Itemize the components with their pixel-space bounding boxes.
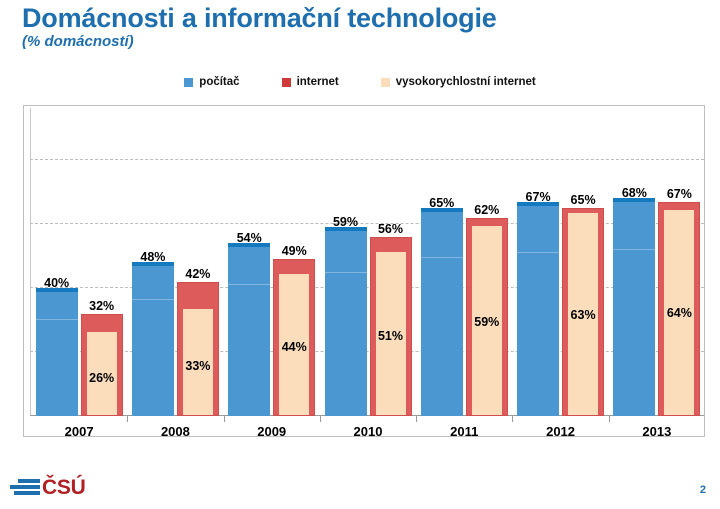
title-block: Domácnosti a informační technologie (% d… — [22, 4, 682, 50]
x-axis-label-2008: 2008 — [132, 424, 219, 439]
bar-internet-2009[interactable]: 49%44% — [273, 259, 315, 416]
x-axis-tick-3 — [320, 416, 321, 422]
page-subtitle: (% domácností) — [22, 34, 682, 50]
bar-group-2008: 48%42%33% — [132, 128, 219, 416]
bar-internet-2008[interactable]: 42%33% — [177, 282, 219, 416]
csu-bars-logo-icon — [10, 476, 40, 498]
bar-group-2009: 54%49%44% — [228, 128, 315, 416]
bar-label-broadband-2008: 33% — [183, 359, 213, 373]
legend-label: počítač — [199, 76, 239, 88]
bar-label-broadband-2010: 51% — [376, 329, 406, 343]
bar-group-2012: 67%65%63% — [517, 128, 604, 416]
x-axis-tick-5 — [512, 416, 513, 422]
bar-label-broadband-2009: 44% — [279, 340, 309, 354]
page-title: Domácnosti a informační technologie — [22, 4, 682, 32]
legend-swatch-icon — [184, 78, 193, 87]
bar-label-broadband-2012: 63% — [568, 308, 598, 322]
bar-label-internet-2007: 32% — [82, 299, 122, 313]
bar-computer-2007[interactable]: 40% — [36, 288, 78, 416]
bar-label-internet-2010: 56% — [371, 222, 411, 236]
legend-swatch-icon — [381, 78, 390, 87]
bar-computer-2013[interactable]: 68% — [613, 198, 655, 416]
bar-group-2010: 59%56%51% — [325, 128, 412, 416]
bar-broadband-2007[interactable]: 26% — [87, 332, 117, 415]
x-axis-tick-6 — [609, 416, 610, 422]
bar-internet-2007[interactable]: 32%26% — [81, 314, 123, 416]
bar-label-computer-2013: 68% — [613, 186, 655, 200]
bar-broadband-2009[interactable]: 44% — [279, 274, 309, 415]
bar-broadband-2010[interactable]: 51% — [376, 252, 406, 415]
x-axis-label-2013: 2013 — [613, 424, 700, 439]
bar-computer-2008[interactable]: 48% — [132, 262, 174, 416]
bar-label-computer-2008: 48% — [132, 250, 174, 264]
legend-item-0: počítač — [184, 76, 239, 88]
bar-group-2011: 65%62%59% — [421, 128, 508, 416]
chart-frame: 40%32%26%200748%42%33%200854%49%44%20095… — [23, 105, 705, 437]
legend-item-2: vysokorychlostní internet — [381, 76, 536, 88]
bar-label-internet-2012: 65% — [563, 193, 603, 207]
bar-computer-2009[interactable]: 54% — [228, 243, 270, 416]
x-axis-label-2009: 2009 — [228, 424, 315, 439]
bar-label-computer-2009: 54% — [228, 231, 270, 245]
page-number: 2 — [700, 484, 706, 496]
bar-broadband-2013[interactable]: 64% — [664, 210, 694, 415]
bar-broadband-2008[interactable]: 33% — [183, 309, 213, 415]
bar-internet-2010[interactable]: 56%51% — [370, 237, 412, 416]
bar-computer-2011[interactable]: 65% — [421, 208, 463, 416]
bar-label-broadband-2013: 64% — [664, 306, 694, 320]
bar-broadband-2011[interactable]: 59% — [472, 226, 502, 415]
bar-group-2007: 40%32%26% — [36, 128, 123, 416]
x-axis-label-2010: 2010 — [325, 424, 412, 439]
x-axis-label-2007: 2007 — [36, 424, 123, 439]
x-axis-label-2012: 2012 — [517, 424, 604, 439]
bar-label-computer-2010: 59% — [325, 215, 367, 229]
bar-internet-2012[interactable]: 65%63% — [562, 208, 604, 416]
bar-label-computer-2007: 40% — [36, 276, 78, 290]
csu-logo: ČSÚ — [10, 476, 85, 498]
bar-label-broadband-2007: 26% — [87, 371, 117, 385]
x-axis-tick-2 — [224, 416, 225, 422]
bar-computer-2010[interactable]: 59% — [325, 227, 367, 416]
bar-groups: 40%32%26%200748%42%33%200854%49%44%20095… — [31, 106, 705, 438]
bar-label-computer-2011: 65% — [421, 196, 463, 210]
bar-label-computer-2012: 67% — [517, 190, 559, 204]
x-axis-tick-1 — [127, 416, 128, 422]
legend-label: vysokorychlostní internet — [396, 76, 536, 88]
bar-internet-2013[interactable]: 67%64% — [658, 202, 700, 416]
bar-label-internet-2011: 62% — [467, 203, 507, 217]
x-axis-tick-4 — [416, 416, 417, 422]
csu-logo-text: ČSÚ — [42, 477, 85, 498]
bar-label-internet-2009: 49% — [274, 244, 314, 258]
bar-label-broadband-2011: 59% — [472, 315, 502, 329]
bar-computer-2012[interactable]: 67% — [517, 202, 559, 416]
chart-legend: počítačinternetvysokorychlostní internet — [0, 76, 720, 88]
bar-label-internet-2013: 67% — [659, 187, 699, 201]
bar-broadband-2012[interactable]: 63% — [568, 213, 598, 415]
x-axis-label-2011: 2011 — [421, 424, 508, 439]
legend-item-1: internet — [282, 76, 339, 88]
legend-swatch-icon — [282, 78, 291, 87]
plot-area: 40%32%26%200748%42%33%200854%49%44%20095… — [24, 106, 706, 438]
bar-group-2013: 68%67%64% — [613, 128, 700, 416]
legend-label: internet — [297, 76, 339, 88]
bar-label-internet-2008: 42% — [178, 267, 218, 281]
bar-internet-2011[interactable]: 62%59% — [466, 218, 508, 416]
